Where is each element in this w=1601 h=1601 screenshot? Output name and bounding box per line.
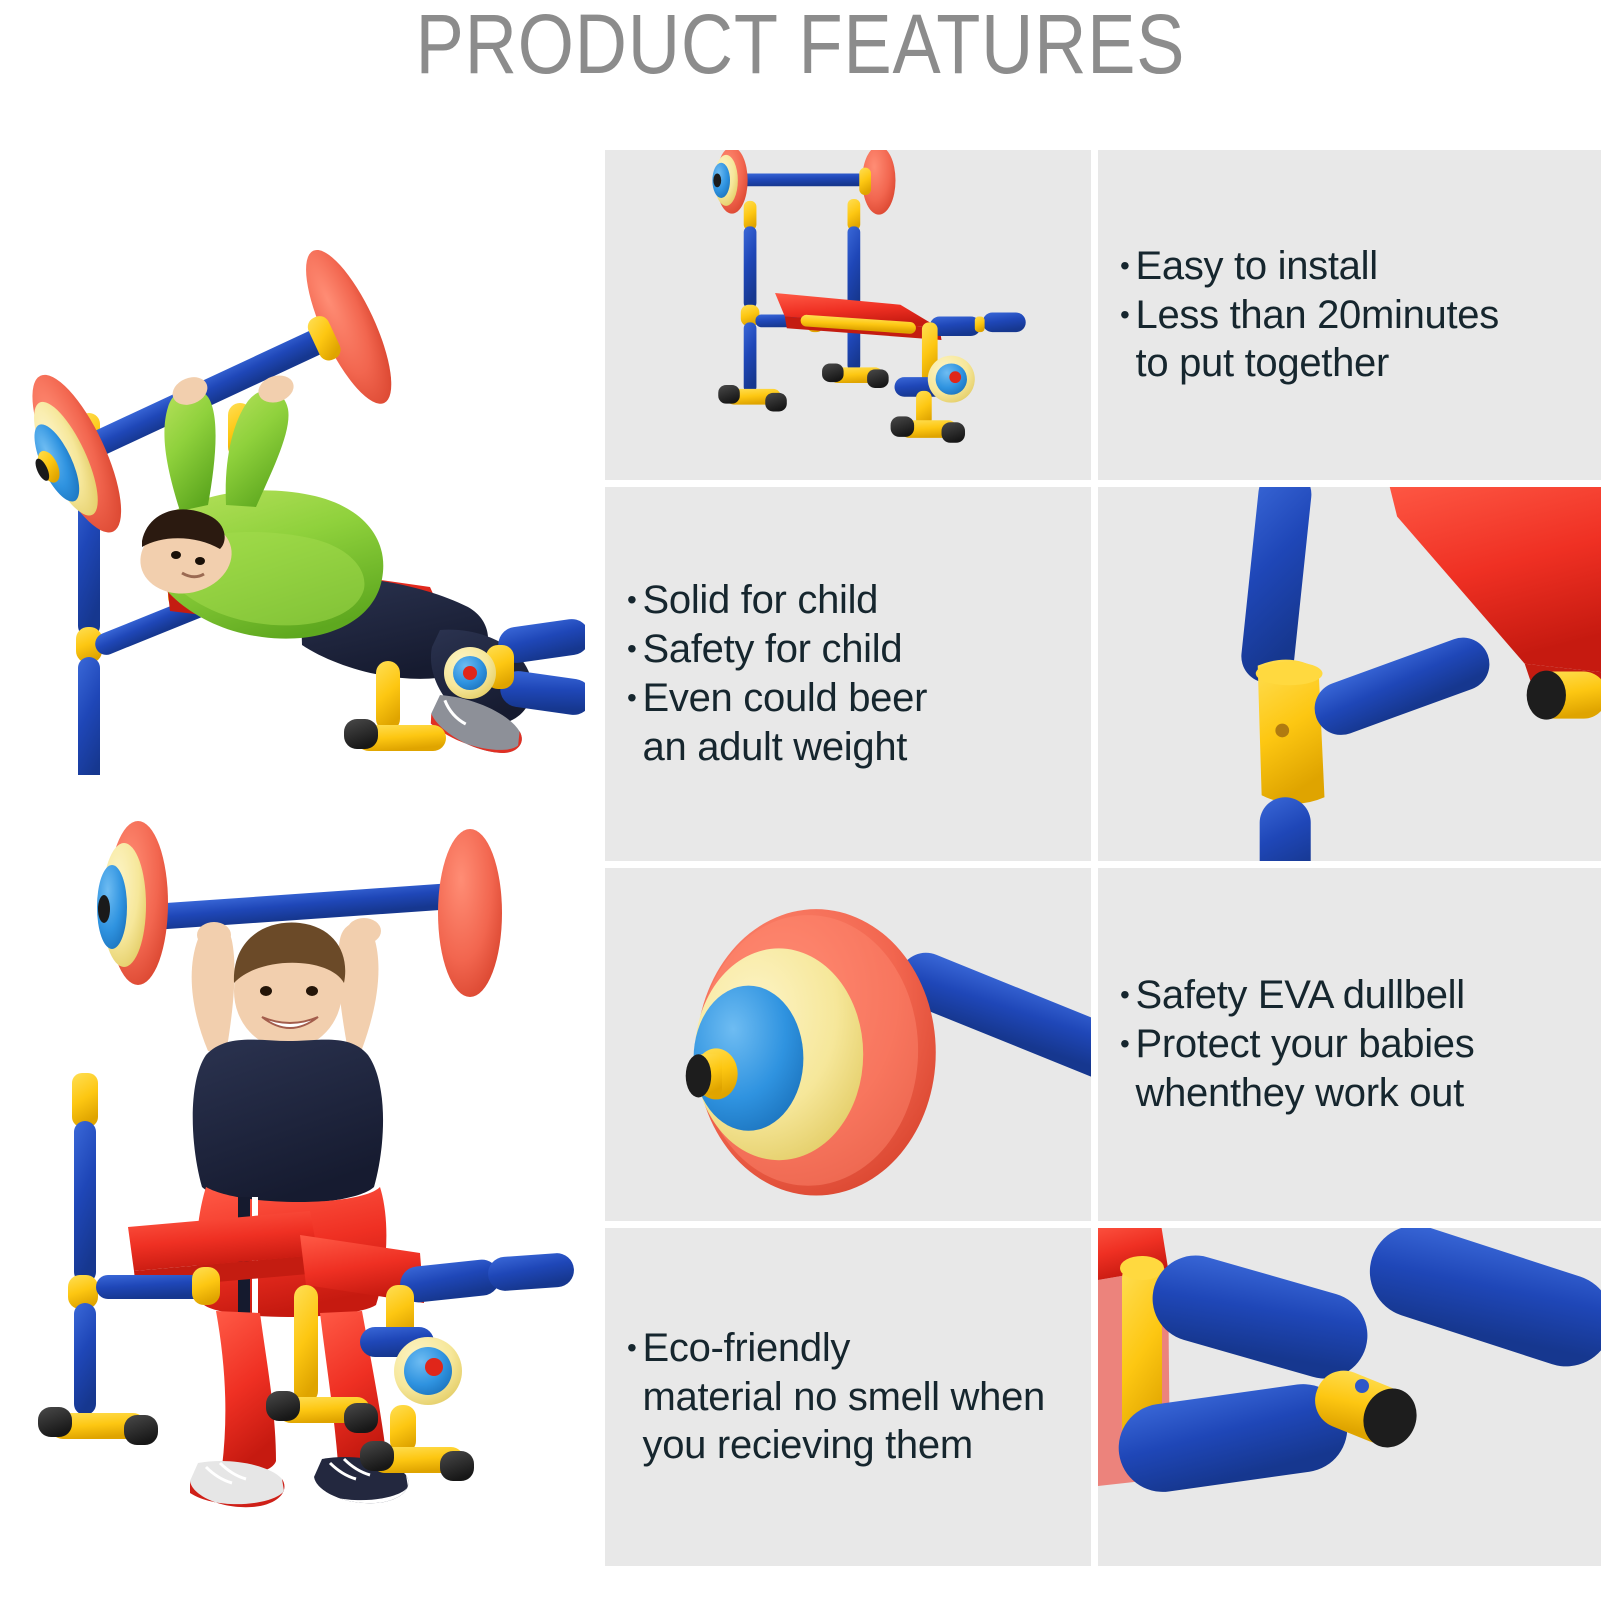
bullet-text: Easy to install	[1136, 242, 1593, 291]
child-bench-press-photo	[0, 175, 585, 775]
bullet-item-continuation: • an adult weight	[627, 723, 1083, 772]
bullet-item: • Safety for child	[627, 625, 1083, 674]
leg-roller-illustration	[1098, 1228, 1601, 1566]
bullet-text: Less than 20minutes	[1136, 291, 1593, 340]
bullet-item: • Protect your babies	[1120, 1020, 1593, 1069]
bullet-item: • Safety EVA dullbell	[1120, 971, 1593, 1020]
leg-roller-closeup-image	[1098, 1228, 1601, 1566]
bullet-text: whenthey work out	[1136, 1069, 1593, 1118]
bullet-item: • Less than 20minutes	[1120, 291, 1593, 340]
bullet-text: Eco-friendly	[643, 1324, 1083, 1373]
bullet-item-continuation: • material no smell when	[627, 1373, 1083, 1422]
page-title: PRODUCT FEATURES	[112, 2, 1489, 88]
bullet-text: you recieving them	[643, 1421, 1083, 1470]
dumbbell-closeup-image	[605, 868, 1098, 1228]
child-overhead-press-photo	[20, 815, 590, 1535]
bullet-item-continuation: • you recieving them	[627, 1421, 1083, 1470]
full-set-illustration	[605, 150, 1091, 480]
bullet-dot-icon: •	[627, 625, 637, 672]
bullet-item-continuation: • to put together	[1120, 339, 1593, 388]
bullet-text: Solid for child	[643, 576, 1083, 625]
dumbbell-bullets: • Safety EVA dullbell • Protect your bab…	[1120, 971, 1593, 1117]
bullet-item: • Solid for child	[627, 576, 1083, 625]
joint-closeup-illustration	[1098, 487, 1601, 861]
product-features-infographic: PRODUCT FEATURES	[0, 0, 1601, 1601]
material-features: • Eco-friendly • material no smell when …	[605, 1228, 1098, 1566]
bullet-dot-icon: •	[1120, 971, 1130, 1018]
bullet-item: • Easy to install	[1120, 242, 1593, 291]
dumbbell-closeup-illustration	[605, 868, 1091, 1221]
child-overhead-press-illustration	[20, 815, 590, 1535]
bullet-dot-icon: •	[1120, 242, 1130, 289]
product-full-set-image	[605, 150, 1098, 487]
safety-bullets: • Solid for child • Safety for child • E…	[627, 576, 1083, 771]
child-bench-press-illustration	[0, 175, 585, 775]
bullet-item: • Even could beer	[627, 674, 1083, 723]
bullet-text: Even could beer	[643, 674, 1083, 723]
install-features: • Easy to install • Less than 20minutes …	[1098, 150, 1601, 487]
bullet-dot-icon: •	[627, 576, 637, 623]
bullet-text: material no smell when	[643, 1373, 1083, 1422]
bullet-dot-icon: •	[627, 674, 637, 721]
feature-grid: • Easy to install • Less than 20minutes …	[605, 150, 1601, 1566]
bullet-dot-icon: •	[1120, 1020, 1130, 1067]
bullet-item-continuation: • whenthey work out	[1120, 1069, 1593, 1118]
bullet-text: Protect your babies	[1136, 1020, 1593, 1069]
bullet-text: Safety EVA dullbell	[1136, 971, 1593, 1020]
bullet-dot-icon: •	[627, 1324, 637, 1371]
install-bullets: • Easy to install • Less than 20minutes …	[1120, 242, 1593, 388]
bullet-text: Safety for child	[643, 625, 1083, 674]
bullet-item: • Eco-friendly	[627, 1324, 1083, 1373]
bullet-text: an adult weight	[643, 723, 1083, 772]
joint-closeup-image	[1098, 487, 1601, 868]
material-bullets: • Eco-friendly • material no smell when …	[627, 1324, 1083, 1470]
dumbbell-features: • Safety EVA dullbell • Protect your bab…	[1098, 868, 1601, 1228]
safety-features: • Solid for child • Safety for child • E…	[605, 487, 1098, 868]
bullet-dot-icon: •	[1120, 291, 1130, 338]
bullet-text: to put together	[1136, 339, 1593, 388]
